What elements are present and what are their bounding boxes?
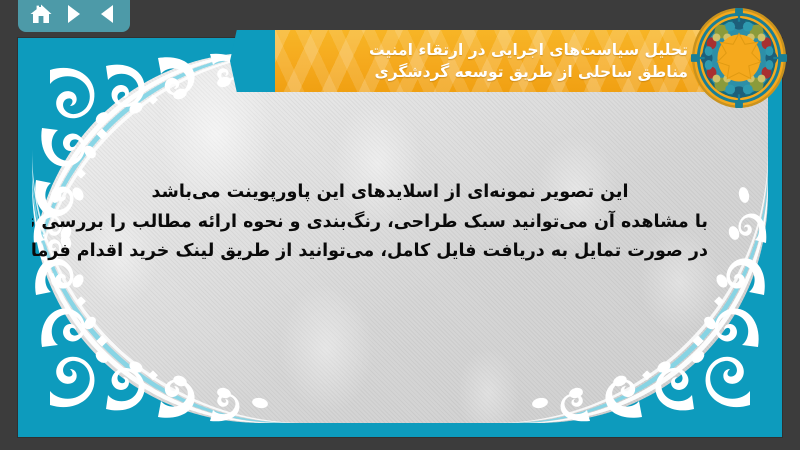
body-line-2: با مشاهده آن می‌توانید سبک طراحی، رنگ‌بن… [72,208,708,236]
title-line-1: تحلیل سیاست‌های اجرایی در ارتقاء امنیت [289,39,688,61]
banner-wedge-shape [230,30,278,92]
home-button[interactable] [28,2,54,26]
navigation-bar [18,0,130,32]
body-line-1: این تصویر نمونه‌ای از اسلایدهای این پاور… [72,178,708,206]
persian-medallion-ornament [690,6,788,110]
forward-button[interactable] [61,2,87,26]
slide-frame: این تصویر نمونه‌ای از اسلایدهای این پاور… [18,38,782,437]
triangle-left-icon [101,5,113,23]
body-line-3: در صورت تمایل به دریافت فایل کامل، می‌تو… [72,237,708,265]
back-button[interactable] [94,2,120,26]
home-icon [29,3,53,25]
title-line-2: مناطق ساحلی از طریق توسعه گردشگری [289,61,688,83]
arabesque-corner-ornament-bottom-right [468,123,768,423]
arabesque-corner-ornament-bottom-left [32,123,332,423]
slide-body-text: این تصویر نمونه‌ای از اسلایدهای این پاور… [72,178,708,265]
slide-viewer: این تصویر نمونه‌ای از اسلایدهای این پاور… [0,0,800,450]
slide-content-area: این تصویر نمونه‌ای از اسلایدهای این پاور… [32,52,768,423]
triangle-right-icon [68,5,80,23]
